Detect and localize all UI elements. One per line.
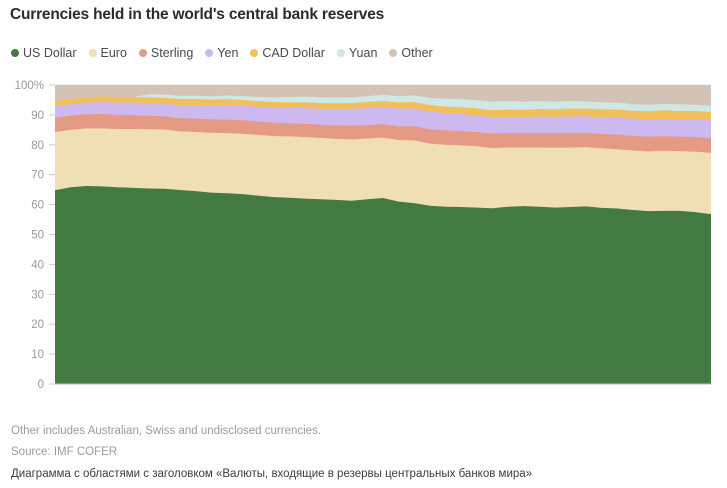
y-axis-tick-label: 70 [31, 170, 44, 182]
y-axis-tick-label: 10 [31, 349, 44, 361]
legend-dot-icon [337, 49, 345, 57]
stacked-area-chart: 0102030405060708090100%20152016201720182… [0, 78, 727, 390]
chart-caption: Диаграмма с областями с заголовком «Валю… [11, 468, 532, 480]
legend-item-label: Euro [101, 46, 127, 60]
y-axis-tick-label: 30 [31, 289, 44, 301]
legend-item-label: Yuan [349, 46, 378, 60]
legend-item-euro[interactable]: Euro [89, 46, 127, 60]
footnote-source: Source: IMF COFER [11, 446, 117, 458]
legend-dot-icon [250, 49, 258, 57]
chart-plot-area: 0102030405060708090100%20152016201720182… [0, 78, 727, 390]
footnote-other: Other includes Australian, Swiss and und… [11, 425, 321, 437]
legend-dot-icon [205, 49, 213, 57]
page-title: Currencies held in the world's central b… [10, 6, 384, 24]
legend-item-label: CAD Dollar [262, 46, 325, 60]
y-axis-tick-label: 40 [31, 259, 44, 271]
legend-item-label: US Dollar [23, 46, 77, 60]
legend-dot-icon [89, 49, 97, 57]
legend-item-label: Sterling [151, 46, 193, 60]
legend-item-label: Other [401, 46, 432, 60]
y-axis-tick-label: 100% [15, 80, 44, 92]
y-axis-tick-label: 60 [31, 200, 44, 212]
y-axis-tick-label: 80 [31, 140, 44, 152]
chart-page: Currencies held in the world's central b… [0, 0, 727, 488]
legend-item-cad-dollar[interactable]: CAD Dollar [250, 46, 325, 60]
legend-item-yuan[interactable]: Yuan [337, 46, 378, 60]
y-axis-tick-label: 90 [31, 110, 44, 122]
area-series-us-dollar [55, 186, 711, 384]
y-axis-tick-label: 20 [31, 319, 44, 331]
legend-dot-icon [11, 49, 19, 57]
legend-item-us-dollar[interactable]: US Dollar [11, 46, 77, 60]
legend-dot-icon [389, 49, 397, 57]
y-axis-tick-label: 0 [38, 379, 44, 390]
y-axis-tick-label: 50 [31, 230, 44, 242]
chart-legend: US DollarEuroSterlingYenCAD DollarYuanOt… [11, 46, 433, 60]
legend-item-yen[interactable]: Yen [205, 46, 238, 60]
legend-item-other[interactable]: Other [389, 46, 432, 60]
legend-item-label: Yen [217, 46, 238, 60]
legend-item-sterling[interactable]: Sterling [139, 46, 193, 60]
legend-dot-icon [139, 49, 147, 57]
